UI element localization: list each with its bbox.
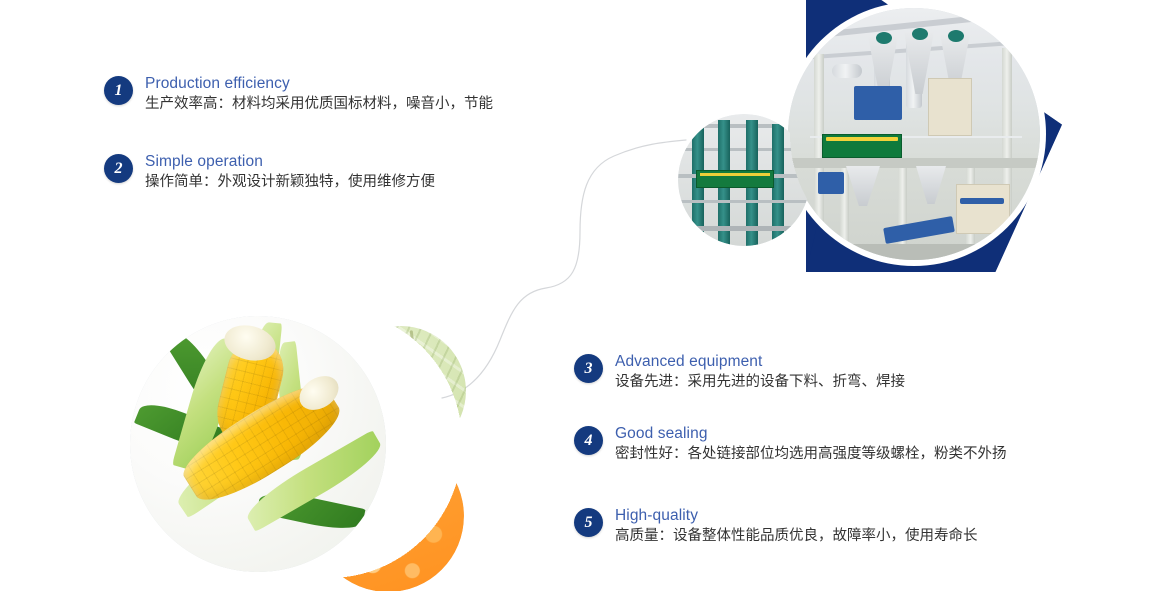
- fresh-corn-cobs-photo: [130, 316, 386, 572]
- feature-badge-3: 3: [574, 354, 603, 383]
- feature-title-en-5: High-quality: [615, 506, 978, 525]
- feature-title-cn-1: 生产效率高：材料均采用优质国标材料，噪音小，节能: [145, 94, 493, 115]
- feature-title-cn-4: 密封性好：各处链接部位均选用高强度等级螺栓，粉类不外扬: [615, 444, 1007, 465]
- feature-badge-1: 1: [104, 76, 133, 105]
- feature-item-2[interactable]: 2 Simple operation 操作简单：外观设计新颖独特，使用维修方便: [104, 152, 435, 193]
- feature-title-en-4: Good sealing: [615, 424, 1007, 443]
- feature-title-en-1: Production efficiency: [145, 74, 493, 93]
- feature-item-1[interactable]: 1 Production efficiency 生产效率高：材料均采用优质国标材…: [104, 74, 493, 115]
- feature-text-1: Production efficiency 生产效率高：材料均采用优质国标材料，…: [145, 74, 493, 115]
- feature-text-2: Simple operation 操作简单：外观设计新颖独特，使用维修方便: [145, 152, 435, 193]
- flour-milling-plant-photo: [788, 8, 1040, 260]
- feature-badge-4: 4: [574, 426, 603, 455]
- feature-item-5[interactable]: 5 High-quality 高质量：设备整体性能品质优良，故障率小，使用寿命长: [574, 506, 978, 547]
- teal-milling-equipment-photo: [678, 114, 810, 246]
- feature-title-en-2: Simple operation: [145, 152, 435, 171]
- feature-item-3[interactable]: 3 Advanced equipment 设备先进：采用先进的设备下料、折弯、焊…: [574, 352, 905, 393]
- feature-badge-2: 2: [104, 154, 133, 183]
- feature-text-4: Good sealing 密封性好：各处链接部位均选用高强度等级螺栓，粉类不外扬: [615, 424, 1007, 465]
- feature-title-cn-5: 高质量：设备整体性能品质优良，故障率小，使用寿命长: [615, 526, 978, 547]
- feature-highlight-infographic: 1 Production efficiency 生产效率高：材料均采用优质国标材…: [0, 0, 1154, 591]
- feature-item-4[interactable]: 4 Good sealing 密封性好：各处链接部位均选用高强度等级螺栓，粉类不…: [574, 424, 1007, 465]
- feature-title-cn-2: 操作简单：外观设计新颖独特，使用维修方便: [145, 172, 435, 193]
- feature-text-3: Advanced equipment 设备先进：采用先进的设备下料、折弯、焊接: [615, 352, 905, 393]
- feature-title-cn-3: 设备先进：采用先进的设备下料、折弯、焊接: [615, 372, 905, 393]
- feature-badge-5: 5: [574, 508, 603, 537]
- feature-text-5: High-quality 高质量：设备整体性能品质优良，故障率小，使用寿命长: [615, 506, 978, 547]
- feature-title-en-3: Advanced equipment: [615, 352, 905, 371]
